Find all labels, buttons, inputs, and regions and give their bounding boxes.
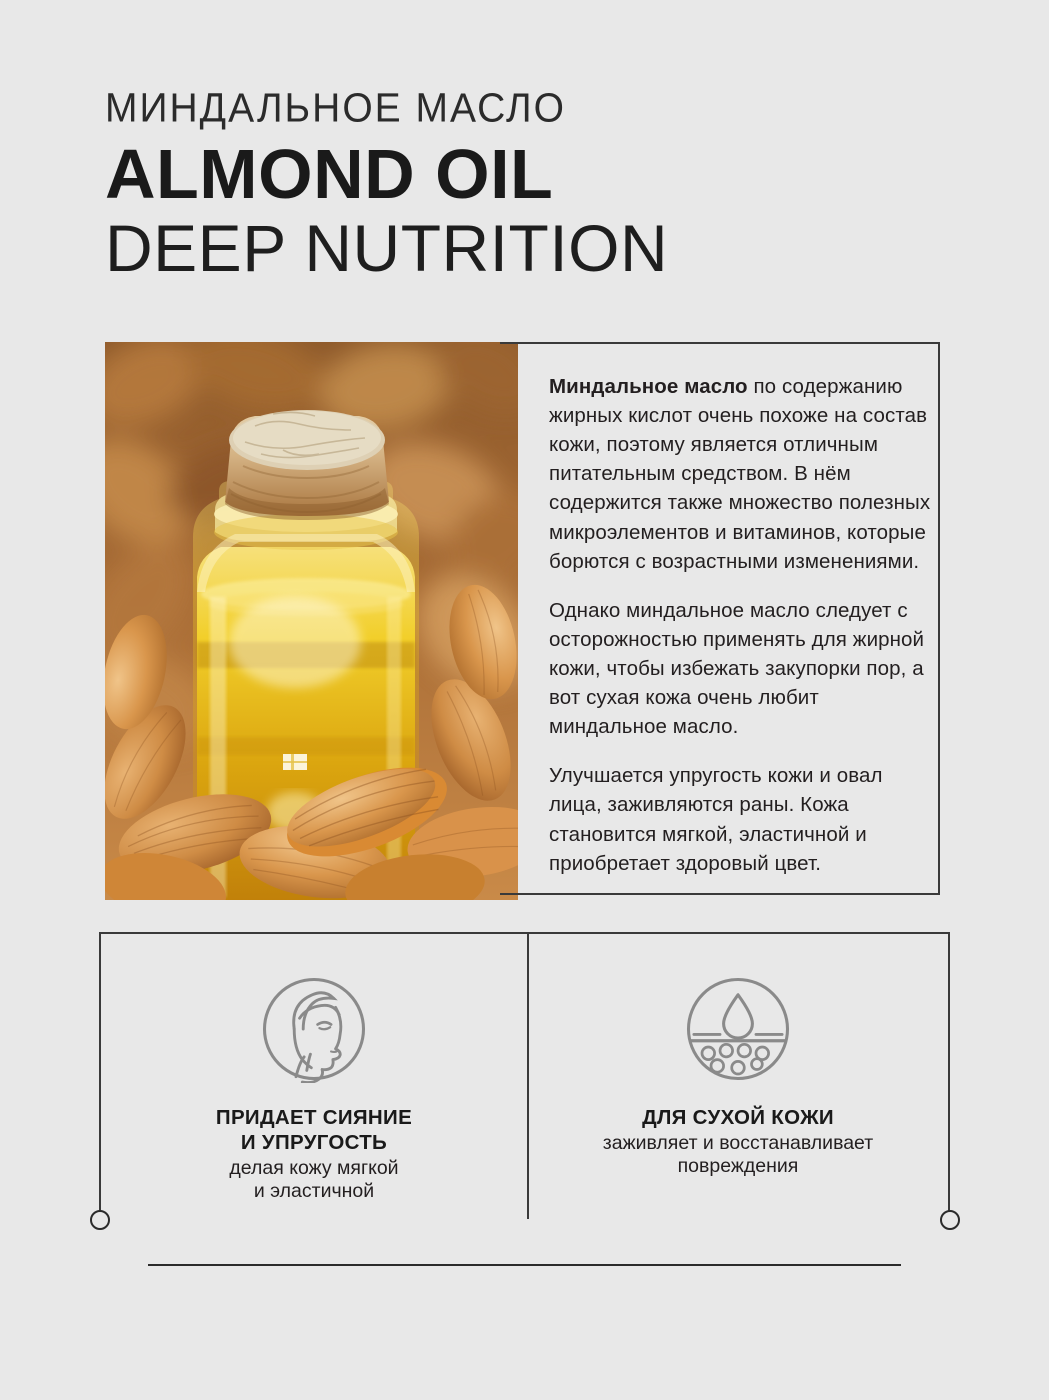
water-drop-skin-layers-icon bbox=[684, 975, 792, 1083]
paragraph-3: Улучшается упругость кожи и овал лица, з… bbox=[549, 761, 931, 877]
page-subtitle: DEEP NUTRITION bbox=[105, 213, 965, 284]
feature-title: ДЛЯ СУХОЙ КОЖИ bbox=[528, 1105, 948, 1130]
paragraph-1-lead: Миндальное масло bbox=[549, 375, 748, 398]
feature-title: ПРИДАЕТ СИЯНИЕ И УПРУГОСТЬ bbox=[104, 1105, 524, 1155]
woman-face-profile-icon bbox=[260, 975, 368, 1083]
page-header: МИНДАЛЬНОЕ МАСЛО ALMOND OIL DEEP NUTRITI… bbox=[105, 88, 965, 284]
paragraph-2: Однако миндальное масло следует с осторо… bbox=[549, 596, 931, 742]
feature-description: заживляет и восстанавливает повреждения bbox=[528, 1132, 948, 1179]
paragraph-1-rest: по содержанию жирных кислот очень похоже… bbox=[549, 375, 930, 573]
feature-description: делая кожу мягкой и эластичной bbox=[104, 1157, 524, 1204]
almond-oil-bottle-photo bbox=[105, 342, 518, 900]
feature-item-radiance: ПРИДАЕТ СИЯНИЕ И УПРУГОСТЬ делая кожу мя… bbox=[104, 975, 524, 1204]
paragraph-1: Миндальное масло по содержанию жирных ки… bbox=[549, 372, 931, 576]
article-body: Миндальное масло по содержанию жирных ки… bbox=[549, 372, 931, 878]
header-kicker: МИНДАЛЬНОЕ МАСЛО bbox=[105, 88, 965, 131]
frame-end-circle-left bbox=[90, 1210, 110, 1230]
page-title: ALMOND OIL bbox=[105, 137, 965, 211]
frame-end-circle-right bbox=[940, 1210, 960, 1230]
feature-item-dry-skin: ДЛЯ СУХОЙ КОЖИ заживляет и восстанавлива… bbox=[528, 975, 948, 1179]
bottom-rule bbox=[148, 1264, 901, 1266]
